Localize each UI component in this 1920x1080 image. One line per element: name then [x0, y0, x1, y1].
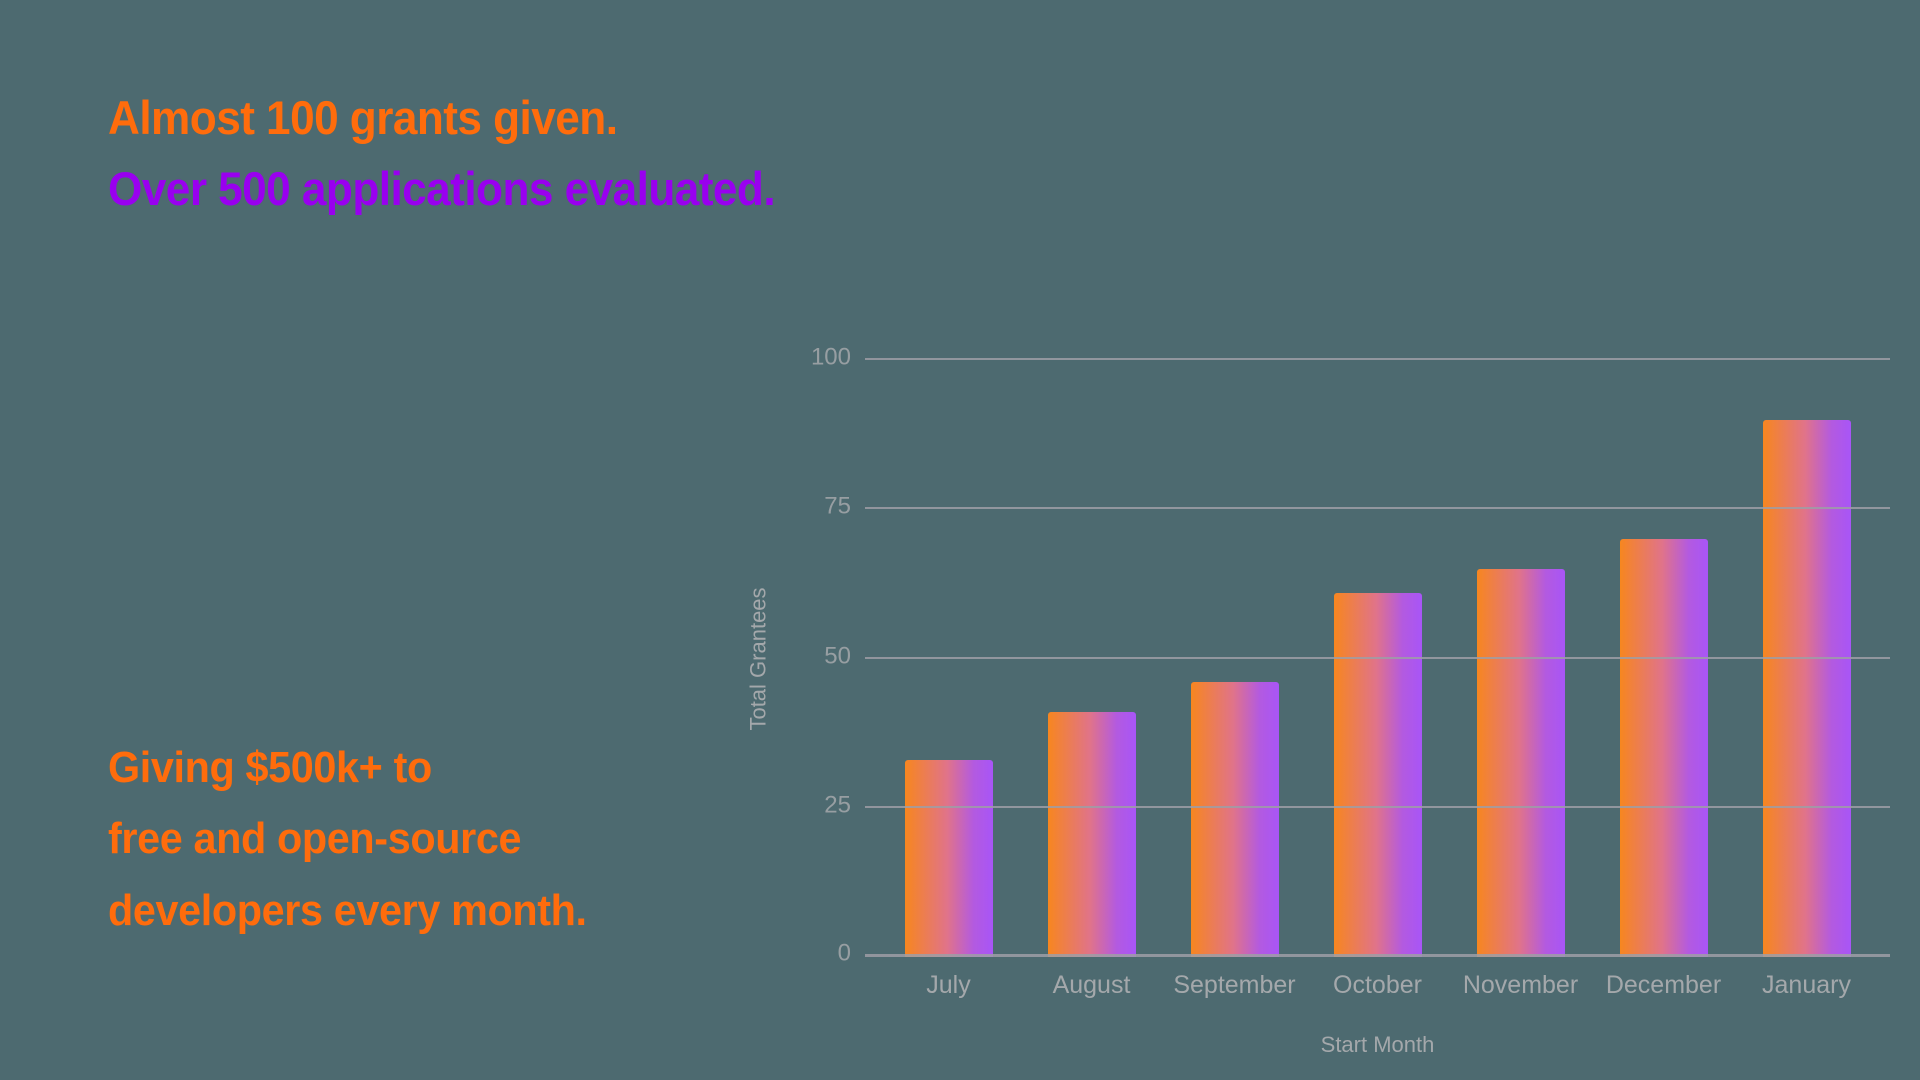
y-axis-title-label: Total Grantees: [746, 587, 772, 730]
y-tick-label-100: 100: [811, 343, 851, 371]
x-tick-label-december: December: [1592, 971, 1735, 1000]
bar-slot-november: [1449, 360, 1592, 957]
gridline-100: 100: [865, 358, 1890, 360]
bar-slot-october: [1306, 360, 1449, 957]
y-tick-label-25: 25: [824, 791, 851, 819]
bar-slot-january: [1735, 360, 1878, 957]
bar-group: [865, 360, 1890, 957]
headline-line-2: Over 500 applications evaluated.: [108, 153, 954, 224]
y-tick-label-0: 0: [838, 939, 851, 967]
bar-october[interactable]: [1334, 593, 1422, 957]
x-axis-tick-labels: JulyAugustSeptemberOctoberNovemberDecemb…: [865, 971, 1890, 1000]
gridline-0: 0: [865, 954, 1890, 957]
gridline-50: 50: [865, 657, 1890, 659]
statement-line-2: free and open-source: [108, 803, 822, 874]
y-axis-title: Total Grantees: [744, 360, 774, 957]
bar-slot-july: [877, 360, 1020, 957]
gridline-75: 75: [865, 507, 1890, 509]
bar-november[interactable]: [1477, 569, 1565, 957]
bar-december[interactable]: [1620, 539, 1708, 957]
y-tick-label-50: 50: [824, 642, 851, 670]
bar-slot-august: [1020, 360, 1163, 957]
headline-block: Almost 100 grants given. Over 500 applic…: [108, 82, 1008, 225]
statement-line-1: Giving $500k+ to: [108, 732, 822, 803]
y-tick-label-75: 75: [824, 493, 851, 521]
statement-line-3: developers every month.: [108, 875, 822, 946]
bar-chart: Total Grantees 0255075100 JulyAugustSept…: [760, 330, 1890, 1050]
bar-july[interactable]: [905, 760, 993, 957]
bar-september[interactable]: [1191, 682, 1279, 957]
x-tick-label-august: August: [1020, 971, 1163, 1000]
headline-line-1: Almost 100 grants given.: [108, 82, 954, 153]
x-tick-label-november: November: [1449, 971, 1592, 1000]
x-axis-title: Start Month: [865, 1032, 1890, 1058]
plot-area: 0255075100: [865, 360, 1890, 957]
x-tick-label-july: July: [877, 971, 1020, 1000]
bar-august[interactable]: [1048, 712, 1136, 957]
x-tick-label-september: September: [1163, 971, 1306, 1000]
bar-slot-september: [1163, 360, 1306, 957]
bar-slot-december: [1592, 360, 1735, 957]
bar-january[interactable]: [1763, 420, 1851, 957]
gridline-25: 25: [865, 806, 1890, 808]
x-tick-label-october: October: [1306, 971, 1449, 1000]
x-tick-label-january: January: [1735, 971, 1878, 1000]
